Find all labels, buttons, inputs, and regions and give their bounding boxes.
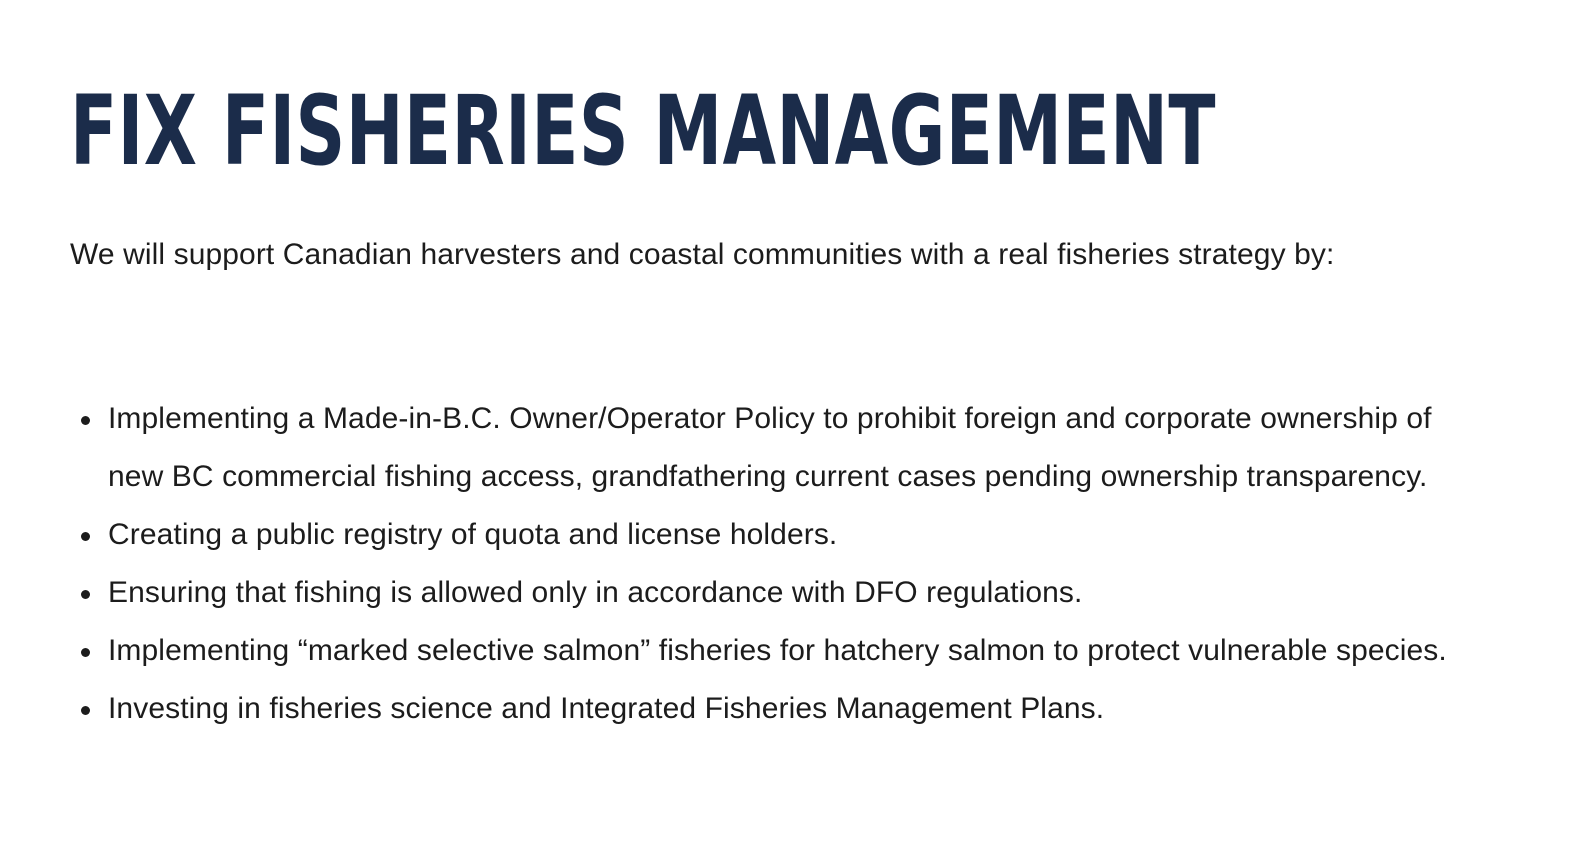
list-item-text: Creating a public registry of quota and … [108,518,837,551]
list-item-text: Implementing “marked selective salmon” f… [108,634,1447,667]
list-item: Ensuring that fishing is allowed only in… [70,564,1490,622]
list-item: Implementing a Made-in-B.C. Owner/Operat… [70,390,1490,506]
list-item-text: Ensuring that fishing is allowed only in… [108,576,1082,609]
page-title: FIX FISHERIES MANAGEMENT [70,86,1216,177]
page-container: FIX FISHERIES MANAGEMENT We will support… [0,0,1578,858]
list-item-text: Investing in fisheries science and Integ… [108,692,1104,725]
policy-bullet-list: Implementing a Made-in-B.C. Owner/Operat… [70,390,1490,738]
list-item: Implementing “marked selective salmon” f… [70,622,1490,680]
list-item-text: Implementing a Made-in-B.C. Owner/Operat… [108,402,1432,493]
list-item: Creating a public registry of quota and … [70,506,1490,564]
list-item: Investing in fisheries science and Integ… [70,680,1490,738]
intro-paragraph: We will support Canadian harvesters and … [70,228,1470,282]
